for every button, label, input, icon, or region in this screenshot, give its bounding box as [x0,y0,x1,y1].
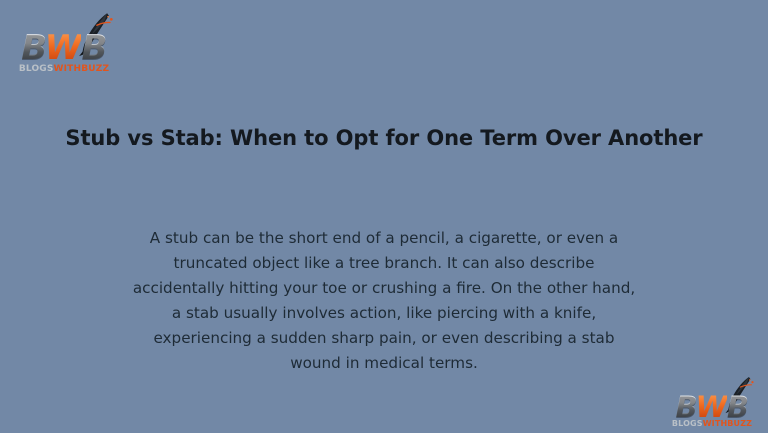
page-title: Stub vs Stab: When to Opt for One Term O… [0,126,768,150]
logo-tagline-part1: BLOGS [19,64,54,74]
brand-logo-bottom-right[interactable]: BWB BLOGSWITHBUZZ [664,378,760,430]
logo-wordmark: BWB [664,393,760,422]
logo-tagline: BLOGSWITHBUZZ [8,65,120,74]
slide-canvas: BWB BLOGSWITHBUZZ Stub vs Stab: When to … [0,0,768,433]
logo-letter-w: W [45,28,82,68]
logo-letter-b2: B [81,28,106,68]
logo-wordmark: BWB [8,31,120,65]
logo-tagline-part2: WITHBUZZ [703,419,752,428]
brand-logo-top-left[interactable]: BWB BLOGSWITHBUZZ [8,14,120,76]
logo-tagline-part2: WITHBUZZ [54,64,110,74]
logo-tagline: BLOGSWITHBUZZ [664,420,760,428]
logo-inner-watermark: BWB BLOGSWITHBUZZ [664,378,760,430]
logo-letter-b1: B [21,28,44,68]
logo-tagline-part1: BLOGS [672,419,703,428]
body-paragraph: A stub can be the short end of a pencil,… [128,226,640,376]
logo-inner: BWB BLOGSWITHBUZZ [8,14,120,76]
